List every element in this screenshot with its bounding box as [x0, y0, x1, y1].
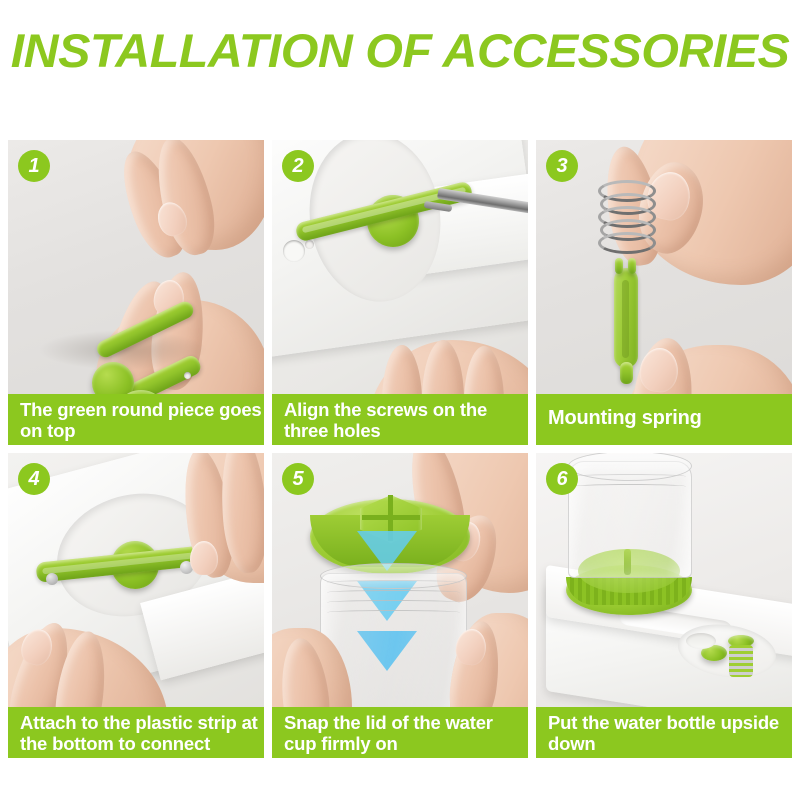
step-badge-5: 5: [282, 463, 314, 495]
spring-with-clip: [728, 635, 754, 677]
step-caption-2: Align the screws on the three holes: [272, 394, 528, 445]
step-badge-4: 4: [18, 463, 50, 495]
step-caption-4: Attach to the plastic strip at the botto…: [8, 707, 264, 758]
clip-prong-left: [615, 258, 623, 274]
step-caption-6: Put the water bottle upside down: [536, 707, 792, 758]
step-panel-6: 6 Put the water bottle upside down: [536, 453, 792, 758]
strip-hole: [305, 240, 314, 249]
step-badge-2: 2: [282, 150, 314, 182]
strip-hole: [184, 372, 191, 379]
step-caption-1: The green round piece goes on top: [8, 394, 264, 445]
valve-fin: [362, 515, 420, 520]
step-panel-3: 3 Mounting spring: [536, 140, 792, 445]
step-panel-4: 4 Attach to the plastic strip at the bot…: [8, 453, 264, 758]
step-badge-6: 6: [546, 463, 578, 495]
cup-mouth: [320, 563, 467, 589]
step-badge-3: 3: [546, 150, 578, 182]
tray-hole: [283, 240, 305, 262]
step-caption-5: Snap the lid of the water cup firmly on: [272, 707, 528, 758]
clip-prong-right: [628, 258, 636, 274]
step-panel-1: 1 The green round piece goes on top: [8, 140, 264, 445]
step-caption-3: Mounting spring: [536, 394, 792, 445]
step-badge-1: 1: [18, 150, 50, 182]
base-outlet-hole: [686, 633, 716, 649]
clip-tail: [620, 362, 633, 384]
step-panel-2: 2 Align the screws on the three holes: [272, 140, 528, 445]
fingernail: [190, 541, 218, 575]
steps-grid: 1 The green round piece goes on top: [8, 140, 792, 758]
clip-groove: [622, 280, 629, 358]
page-title: INSTALLATION OF ACCESSORIES: [0, 22, 800, 80]
metal-spring: [598, 180, 652, 256]
screw-head: [46, 573, 58, 585]
step-panel-5: 5 Snap the lid of the water cup firmly o…: [272, 453, 528, 758]
